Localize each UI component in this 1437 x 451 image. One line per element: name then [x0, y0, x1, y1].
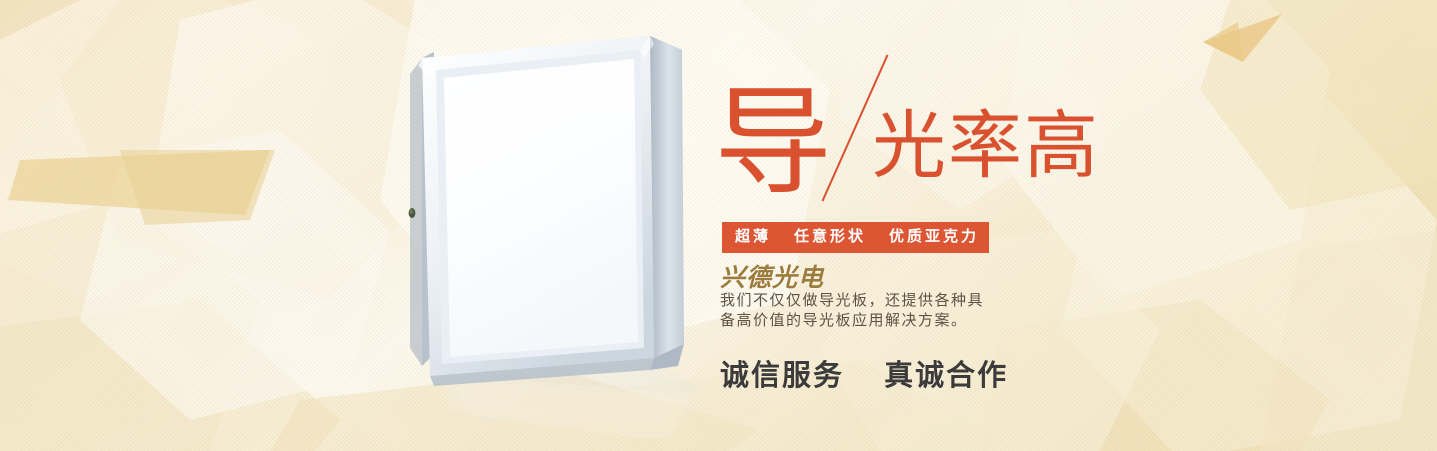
description-line-1: 我们不仅仅做导光板，还提供各种具	[720, 291, 1020, 311]
headline: 导 光率高	[714, 52, 1104, 192]
screw-dot	[409, 208, 416, 218]
feature-tag-list: 超薄 任意形状 优质亚克力	[722, 222, 989, 253]
promo-banner: 导 光率高 超薄 任意形状 优质亚克力 兴德光电 我们不仅仅做导光板，还提供各种…	[0, 0, 1437, 451]
description-line-2: 备高价值的导光板应用解决方案。	[720, 311, 1020, 331]
slogan: 诚信服务 真诚合作	[720, 352, 1008, 394]
feature-tag-premium-acrylic[interactable]: 优质亚克力	[876, 222, 989, 253]
description: 我们不仅仅做导光板，还提供各种具 备高价值的导光板应用解决方案。	[720, 291, 1020, 331]
headline-rest: 光率高	[872, 110, 1100, 184]
slogan-part-1: 诚信服务	[720, 360, 844, 392]
feature-tag-any-shape[interactable]: 任意形状	[781, 222, 876, 253]
brand-name: 兴德光电	[720, 258, 824, 294]
slash-divider-icon	[832, 62, 876, 194]
slogan-part-2: 真诚合作	[884, 360, 1008, 392]
banner-content: 导 光率高 超薄 任意形状 优质亚克力 兴德光电 我们不仅仅做导光板，还提供各种…	[714, 0, 1414, 451]
product-reflection	[430, 358, 702, 438]
product-image-led-panel	[392, 18, 722, 438]
feature-tag-ultra-thin[interactable]: 超薄	[722, 222, 781, 253]
headline-lead-character: 导	[714, 86, 832, 202]
